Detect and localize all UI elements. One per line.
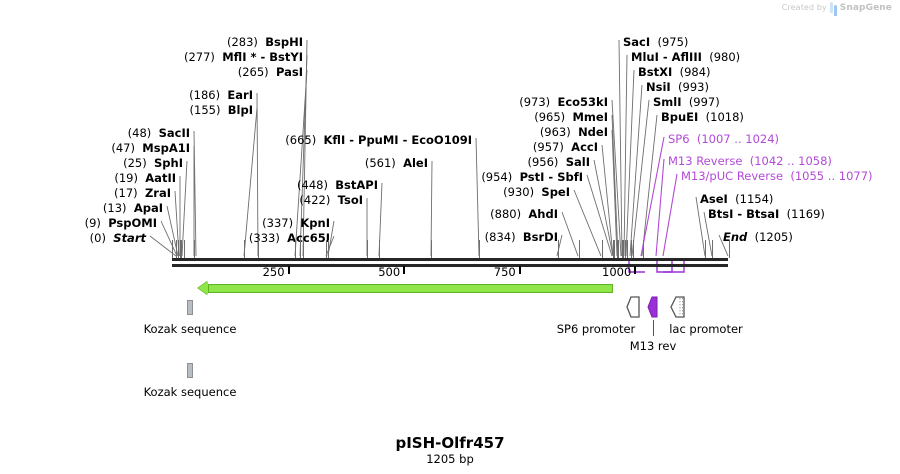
enzyme-site-label[interactable]: (48) SacII	[128, 127, 190, 139]
enzyme-site-name: SacI	[623, 35, 650, 49]
enzyme-site-name: AleI	[403, 156, 428, 170]
enzyme-site-label[interactable]: (9) PspOMI	[85, 217, 157, 229]
orf-arrow-head	[198, 281, 208, 295]
enzyme-site-label[interactable]: SacI (975)	[623, 36, 688, 48]
enzyme-site-position: (975)	[657, 35, 688, 49]
enzyme-site-name: MluI - AflIII	[631, 50, 702, 64]
enzyme-site-label[interactable]: (283) BspHI	[227, 36, 303, 48]
enzyme-site-label[interactable]: (19) AatII	[114, 172, 176, 184]
m13-rev-label: M13 rev	[630, 339, 677, 353]
enzyme-site-label[interactable]: (333) Acc65I	[249, 232, 330, 244]
restriction-site-tick	[729, 240, 730, 258]
enzyme-site-position: (1154)	[735, 192, 773, 206]
restriction-site-tick	[614, 240, 615, 258]
restriction-site-tick	[184, 240, 185, 258]
primer-name: SP6	[668, 132, 690, 146]
enzyme-site-position: (880)	[490, 207, 521, 221]
restriction-site-tick	[625, 240, 626, 258]
primer-name: M13 Reverse	[668, 154, 742, 168]
watermark-prefix: Created by	[782, 3, 827, 12]
restriction-site-tick	[431, 240, 432, 258]
plasmid-map-canvas: Created by SnapGene	[0, 0, 900, 474]
enzyme-site-position: (965)	[534, 110, 565, 124]
restriction-site-tick	[631, 240, 632, 258]
restriction-site-tick	[618, 240, 619, 258]
enzyme-site-label[interactable]: (930) SpeI	[503, 186, 570, 198]
m13-rev-primer-glyph[interactable]	[646, 296, 660, 318]
enzyme-site-position: (0)	[90, 231, 106, 245]
primer-label[interactable]: M13 Reverse (1042 .. 1058)	[668, 155, 832, 167]
plasmid-length: 1205 bp	[426, 452, 474, 466]
enzyme-site-name: SalI	[566, 155, 590, 169]
enzyme-site-position: (17)	[114, 186, 138, 200]
restriction-site-tick	[617, 240, 618, 258]
enzyme-site-name: KflI - PpuMI - EcoO109I	[324, 133, 472, 147]
enzyme-site-position: (834)	[485, 230, 516, 244]
enzyme-site-position: (973)	[519, 95, 550, 109]
primer-label[interactable]: SP6 (1007 .. 1024)	[668, 133, 779, 145]
plasmid-backbone-top	[172, 258, 728, 261]
enzyme-site-label[interactable]: (880) AhdI	[490, 208, 558, 220]
enzyme-site-label[interactable]: (186) EarI	[189, 89, 253, 101]
restriction-site-tick	[643, 240, 644, 258]
enzyme-site-name: NsiI	[646, 80, 671, 94]
restriction-site-tick	[623, 240, 624, 258]
plasmid-backbone-bottom	[172, 264, 728, 267]
enzyme-site-label[interactable]: BtsI - BtsaI (1169)	[708, 208, 825, 220]
enzyme-site-label[interactable]: (47) MspA1I	[111, 142, 190, 154]
ruler-tick	[403, 266, 405, 274]
restriction-site-tick	[579, 240, 580, 258]
restriction-site-tick	[633, 240, 634, 258]
primer-range: (1055 .. 1077)	[790, 169, 872, 183]
enzyme-site-name: PasI	[276, 65, 303, 79]
enzyme-site-name: BtsI - BtsaI	[708, 207, 779, 221]
primer-range: (1007 .. 1024)	[697, 132, 779, 146]
restriction-site-tick	[367, 240, 368, 258]
lac-promoter-label: lac promoter	[669, 322, 743, 336]
kozak-feature-label-2: Kozak sequence	[144, 385, 237, 399]
enzyme-site-name: BstAPI	[335, 178, 378, 192]
snapgene-logo-icon	[830, 2, 837, 13]
restriction-site-tick	[181, 240, 182, 258]
enzyme-site-position: (13)	[103, 201, 127, 215]
enzyme-site-label[interactable]: (277) MflI * - BstYI	[184, 51, 303, 63]
enzyme-site-name: Start	[113, 231, 146, 245]
enzyme-site-name: AseI	[700, 192, 728, 206]
enzyme-site-label[interactable]: (337) KpnI	[262, 217, 330, 229]
kozak-feature-box-1[interactable]	[187, 300, 193, 315]
enzyme-site-position: (19)	[114, 171, 138, 185]
enzyme-site-label[interactable]: (25) SphI	[123, 157, 183, 169]
enzyme-site-name: BsrDI	[523, 230, 558, 244]
ruler-tick	[519, 266, 521, 274]
enzyme-site-name: MmeI	[572, 110, 608, 124]
restriction-site-tick	[303, 240, 304, 258]
restriction-site-tick	[178, 240, 179, 258]
enzyme-site-label[interactable]: MluI - AflIII (980)	[631, 51, 740, 63]
enzyme-site-position: (277)	[184, 50, 215, 64]
enzyme-site-label[interactable]: End (1205)	[723, 231, 793, 243]
enzyme-site-position: (1205)	[755, 230, 793, 244]
enzyme-site-position: (48)	[128, 126, 152, 140]
enzyme-site-name: EarI	[227, 88, 253, 102]
enzyme-site-name: MspA1I	[142, 141, 190, 155]
enzyme-site-label[interactable]: (665) KflI - PpuMI - EcoO109I	[285, 134, 472, 146]
restriction-site-tick	[705, 240, 706, 258]
kozak-feature-box-2[interactable]	[187, 363, 193, 378]
enzyme-site-name: AatII	[145, 171, 176, 185]
enzyme-site-name: AhdI	[528, 207, 558, 221]
restriction-site-tick	[258, 240, 259, 258]
enzyme-site-position: (930)	[503, 185, 534, 199]
sp6-promoter-label: SP6 promoter	[557, 322, 636, 336]
enzyme-site-position: (956)	[527, 155, 558, 169]
restriction-site-tick	[602, 240, 603, 258]
enzyme-site-label[interactable]: BpuEI (1018)	[661, 111, 744, 123]
enzyme-site-label[interactable]: BstXI (984)	[638, 66, 711, 78]
enzyme-site-position: (665)	[285, 133, 316, 147]
enzyme-site-position: (448)	[297, 178, 328, 192]
restriction-site-tick	[172, 240, 173, 258]
restriction-site-tick	[479, 240, 480, 258]
enzyme-site-name: ZraI	[145, 186, 171, 200]
enzyme-site-position: (283)	[227, 35, 258, 49]
enzyme-site-position: (1169)	[787, 207, 825, 221]
ruler-tick-label: 1000	[602, 266, 634, 278]
enzyme-site-name: SpeI	[541, 185, 570, 199]
plasmid-title: pISH-Olfr457	[395, 434, 504, 452]
enzyme-site-position: (265)	[238, 65, 269, 79]
watermark-brand: SnapGene	[840, 3, 892, 13]
enzyme-site-label[interactable]: (561) AleI	[365, 157, 428, 169]
enzyme-site-position: (186)	[189, 88, 220, 102]
enzyme-site-name: PstI - SbfI	[520, 170, 583, 184]
enzyme-site-name: BpuEI	[661, 110, 698, 124]
enzyme-site-position: (963)	[540, 125, 571, 139]
ruler-tick-label: 250	[263, 266, 288, 278]
enzyme-site-label[interactable]: SmlI (997)	[653, 96, 720, 108]
restriction-site-tick	[295, 240, 296, 258]
enzyme-site-position: (25)	[123, 156, 147, 170]
enzyme-site-label[interactable]: (13) ApaI	[103, 202, 163, 214]
lac-promoter-glyph[interactable]	[670, 296, 688, 318]
kozak-feature-label-1: Kozak sequence	[144, 322, 237, 336]
restriction-site-tick	[244, 240, 245, 258]
enzyme-site-position: (155)	[190, 103, 221, 117]
ruler-tick-label: 500	[378, 266, 403, 278]
enzyme-site-label[interactable]: (954) PstI - SbfI	[481, 171, 583, 183]
enzyme-site-name: AccI	[571, 140, 598, 154]
snapgene-watermark: Created by SnapGene	[782, 2, 892, 13]
enzyme-site-position: (1018)	[706, 110, 744, 124]
enzyme-site-name: BspHI	[265, 35, 303, 49]
enzyme-site-position: (333)	[249, 231, 280, 245]
primer-range: (1042 .. 1058)	[750, 154, 832, 168]
enzyme-site-label[interactable]: AseI (1154)	[700, 193, 773, 205]
primer-label[interactable]: M13/pUC Reverse (1055 .. 1077)	[681, 170, 873, 182]
enzyme-site-name: SphI	[154, 156, 183, 170]
enzyme-site-label[interactable]: (155) BlpI	[190, 104, 253, 116]
enzyme-site-label[interactable]: (956) SalI	[527, 156, 590, 168]
enzyme-site-position: (954)	[481, 170, 512, 184]
enzyme-site-label[interactable]: (963) NdeI	[540, 126, 608, 138]
enzyme-site-position: (9)	[85, 216, 101, 230]
enzyme-site-position: (422)	[299, 193, 330, 207]
enzyme-site-label[interactable]: (973) Eco53kI	[519, 96, 608, 108]
enzyme-site-position: (561)	[365, 156, 396, 170]
enzyme-site-name: NdeI	[578, 125, 608, 139]
enzyme-site-name: KpnI	[300, 216, 330, 230]
enzyme-site-label[interactable]: (965) MmeI	[534, 111, 608, 123]
enzyme-site-position: (997)	[689, 95, 720, 109]
enzyme-site-label[interactable]: NsiI (993)	[646, 81, 709, 93]
primer-name: M13/pUC Reverse	[681, 169, 783, 183]
enzyme-site-label[interactable]: (448) BstAPI	[297, 179, 378, 191]
orf-arrow-body[interactable]	[208, 284, 613, 293]
enzyme-site-label[interactable]: (957) AccI	[533, 141, 598, 153]
enzyme-site-name: BstXI	[638, 65, 672, 79]
restriction-site-tick	[194, 240, 195, 258]
enzyme-site-name: PspOMI	[108, 216, 157, 230]
enzyme-site-label[interactable]: (0) Start	[90, 232, 146, 244]
m13-rev-leader	[653, 320, 654, 336]
enzyme-site-label[interactable]: (17) ZraI	[114, 187, 171, 199]
restriction-site-tick	[326, 240, 327, 258]
enzyme-site-name: SacII	[159, 126, 190, 140]
enzyme-site-label[interactable]: (265) PasI	[238, 66, 303, 78]
enzyme-site-name: MflI * - BstYI	[222, 50, 303, 64]
restriction-site-tick	[180, 240, 181, 258]
enzyme-site-position: (993)	[678, 80, 709, 94]
restriction-site-tick	[613, 240, 614, 258]
enzyme-site-name: BlpI	[228, 103, 253, 117]
restriction-site-tick	[379, 240, 380, 258]
restriction-site-tick	[712, 240, 713, 258]
ruler-tick	[288, 266, 290, 274]
restriction-site-tick	[558, 240, 559, 258]
restriction-site-tick	[300, 240, 301, 258]
enzyme-site-label[interactable]: (834) BsrDI	[485, 231, 558, 243]
restriction-site-tick	[627, 240, 628, 258]
enzyme-site-name: ApaI	[134, 201, 163, 215]
enzyme-site-name: TsoI	[338, 193, 363, 207]
enzyme-site-position: (957)	[533, 140, 564, 154]
ruler-tick-label: 750	[494, 266, 519, 278]
enzyme-site-name: Eco53kI	[557, 95, 608, 109]
enzyme-site-position: (337)	[262, 216, 293, 230]
ruler-tick	[634, 266, 636, 274]
enzyme-site-name: End	[723, 230, 747, 244]
enzyme-site-label[interactable]: (422) TsoI	[299, 194, 363, 206]
enzyme-site-name: SmlI	[653, 95, 682, 109]
restriction-site-tick	[328, 240, 329, 258]
sp6-promoter-glyph[interactable]	[626, 296, 642, 318]
enzyme-site-position: (984)	[680, 65, 711, 79]
enzyme-site-position: (980)	[709, 50, 740, 64]
restriction-site-tick	[176, 240, 177, 258]
enzyme-site-position: (47)	[111, 141, 135, 155]
